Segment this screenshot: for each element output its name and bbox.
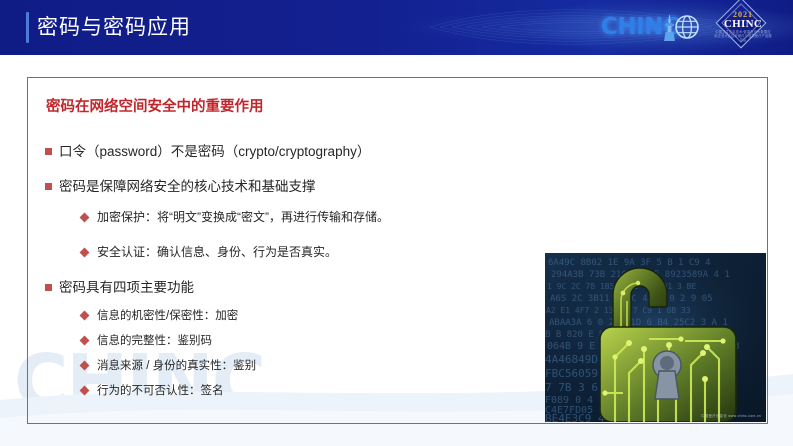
slide: 密码与密码应用 CHINC 2021 CHINC 中国卫生信息技术/健康 <box>0 0 793 446</box>
chinc-logo: CHINC <box>601 13 697 41</box>
bullet-item: 密码具有四项主要功能 <box>45 276 194 297</box>
sub-bullet-item: 行为的不可否认性：签名 <box>81 381 224 399</box>
diamond-bullet-icon <box>80 336 90 346</box>
sub-bullet-item: 信息的机密性/保密性：加密 <box>81 306 238 324</box>
title-accent-bar <box>26 12 29 43</box>
bullet-text: 加密保护：将“明文”变换成“密文”，再进行传输和存储。 <box>97 210 389 224</box>
diamond-bullet-icon <box>80 248 90 258</box>
bullet-text: 密码是保障网络安全的核心技术和基础支撑 <box>59 179 316 194</box>
bullet-text: 行为的不可否认性：签名 <box>97 385 224 397</box>
sub-bullet-item: 信息的完整性：鉴别码 <box>81 331 212 349</box>
bullet-text: 安全认证：确认信息、身份、行为是否真实。 <box>97 245 337 259</box>
badge-subtitle: 中国卫生信息技术/健康医疗大数据应用交流大会暨软硬件与健康医疗产品展览会 <box>714 30 772 42</box>
diamond-bullet-icon <box>80 361 90 371</box>
svg-text:6A49C 8B02 1E 9A 3F 5 B 1: 6A49C 8B02 1E 9A 3F 5 B 1 C9 4 <box>548 258 711 268</box>
bullet-item: 口令（password）不是密码（crypto/cryptography） <box>45 140 370 161</box>
square-bullet-icon <box>45 148 52 155</box>
section-heading: 密码在网络空间安全中的重要作用 <box>46 95 264 116</box>
sub-bullet-item: 加密保护：将“明文”变换成“密文”，再进行传输和存储。 <box>81 208 389 226</box>
sub-bullet-item: 消息来源 / 身份的真实性：鉴别 <box>81 356 256 374</box>
bullet-text: 信息的完整性：鉴别码 <box>97 335 212 347</box>
diamond-bullet-icon <box>80 386 90 396</box>
square-bullet-icon <box>45 183 52 190</box>
slide-header: 密码与密码应用 CHINC 2021 CHINC 中国卫生信息技术/健康 <box>0 0 793 55</box>
bullet-text: 密码具有四项主要功能 <box>59 280 194 295</box>
page-title: 密码与密码应用 <box>37 11 191 41</box>
chinc-2021-badge: 2021 CHINC 中国卫生信息技术/健康医疗大数据应用交流大会暨软硬件与健康… <box>714 2 772 52</box>
globe-icon <box>675 15 699 39</box>
header-wave-decoration <box>430 0 760 55</box>
bullet-item: 密码是保障网络安全的核心技术和基础支撑 <box>45 175 316 196</box>
bullet-text: 口令（password）不是密码（crypto/cryptography） <box>59 144 370 159</box>
diamond-bullet-icon <box>80 213 90 223</box>
photo-credit: 中国医疗信息化 www.chinc.com.cn <box>701 413 761 418</box>
security-padlock-image: 6A49C 8B02 1E 9A 3F 5 B 1 C9 4 294A3B 73… <box>545 253 766 422</box>
bullet-text: 信息的机密性/保密性：加密 <box>97 310 238 322</box>
diamond-bullet-icon <box>80 311 90 321</box>
sub-bullet-item: 安全认证：确认信息、身份、行为是否真实。 <box>81 243 337 261</box>
square-bullet-icon <box>45 284 52 291</box>
badge-name: CHINC <box>714 18 772 30</box>
bullet-text: 消息来源 / 身份的真实性：鉴别 <box>97 360 256 372</box>
padlock-illustration: 6A49C 8B02 1E 9A 3F 5 B 1 C9 4 294A3B 73… <box>545 253 766 422</box>
